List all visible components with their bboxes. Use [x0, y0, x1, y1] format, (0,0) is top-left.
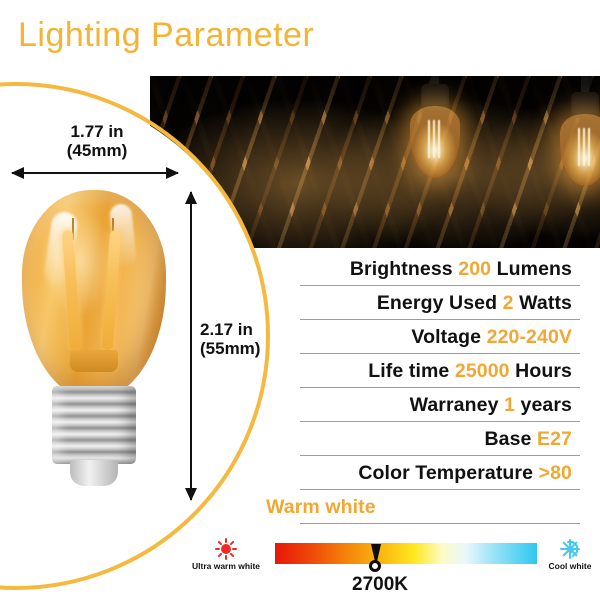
infographic-page: Lighting Parameter [0, 0, 600, 600]
spec-text: Brightness 200 Lumens [350, 258, 572, 281]
bulb-filament [576, 128, 594, 166]
spec-unit: Lumens [497, 258, 572, 280]
sun-ray [218, 541, 223, 546]
color-temperature-scale: Ultra warm white 2700K Cool white [0, 536, 600, 600]
spec-value: 2 [503, 292, 514, 314]
spec-label: Voltage [411, 326, 481, 348]
spec-row-energy-used: Energy Used 2 Watts [258, 286, 588, 320]
spec-list: Brightness 200 Lumens Energy Used 2 Watt… [258, 252, 588, 524]
snowflake-hub [567, 546, 574, 553]
sun-ray [215, 548, 220, 550]
snowflake-icon [559, 538, 581, 560]
warm-white-label: Warm white [266, 496, 376, 519]
width-mm: (45mm) [32, 141, 162, 160]
temperature-gradient-bar [275, 543, 537, 564]
spec-value: 200 [458, 258, 491, 280]
spec-label: Brightness [350, 258, 453, 280]
scale-right-cap: Cool white [540, 538, 600, 571]
spec-label: Base [484, 428, 531, 450]
temperature-marker [368, 544, 384, 574]
marker-value-label: 2700K [330, 574, 430, 596]
sun-ray [225, 538, 227, 543]
bulb-filament [426, 120, 444, 158]
spec-value: E27 [537, 428, 572, 450]
spec-value: 25000 [455, 360, 510, 382]
spec-value: 220-240V [487, 326, 572, 348]
spec-row-brightness: Brightness 200 Lumens [258, 252, 588, 286]
e27-screw-base [52, 386, 136, 464]
marker-knob [369, 560, 381, 572]
spec-row-warranty: Warraney 1 years [258, 388, 588, 422]
page-title: Lighting Parameter [18, 16, 314, 55]
spec-unit: years [521, 394, 572, 416]
row-divider [300, 523, 580, 524]
spec-label: Life time [368, 360, 449, 382]
sun-ray [230, 553, 235, 558]
spec-text: Energy Used 2 Watts [377, 292, 572, 315]
product-bulb-image [14, 190, 174, 520]
ultra-warm-white-label: Ultra warm white [178, 561, 274, 571]
bulb-stem [70, 350, 118, 372]
photo-bulb [550, 90, 600, 210]
sun-icon [215, 538, 237, 560]
spec-label: Energy Used [377, 292, 497, 314]
sun-ray [218, 553, 223, 558]
scale-left-cap: Ultra warm white [178, 538, 274, 571]
spec-text: Warraney 1 years [410, 394, 572, 417]
spec-text: Life time 25000 Hours [368, 360, 572, 383]
spec-row-warm-white: Warm white [258, 490, 588, 524]
spec-unit: Watts [519, 292, 572, 314]
spec-label: Color Temperature [358, 462, 533, 484]
width-dimension-arrow [12, 172, 178, 174]
spec-unit: Hours [515, 360, 572, 382]
sun-ray [232, 548, 237, 550]
photo-bulb [400, 82, 470, 202]
width-inches: 1.77 in [32, 122, 162, 141]
spec-label: Warraney [410, 394, 499, 416]
sun-ray [225, 555, 227, 560]
base-contact-tip [70, 460, 118, 486]
width-dimension-label: 1.77 in (45mm) [32, 122, 162, 160]
spec-row-color-temperature: Color Temperature >80 [258, 456, 588, 490]
spec-value: >80 [539, 462, 572, 484]
cool-white-label: Cool white [540, 561, 600, 571]
spec-text: Base E27 [484, 428, 572, 451]
spec-row-base: Base E27 [258, 422, 588, 456]
sun-ray [230, 541, 235, 546]
spec-row-voltage: Voltage 220-240V [258, 320, 588, 354]
spec-value: 1 [504, 394, 515, 416]
spec-text: Color Temperature >80 [358, 462, 572, 485]
height-dimension-arrow [190, 192, 192, 500]
spec-row-life-time: Life time 25000 Hours [258, 354, 588, 388]
spec-text: Voltage 220-240V [411, 326, 572, 349]
